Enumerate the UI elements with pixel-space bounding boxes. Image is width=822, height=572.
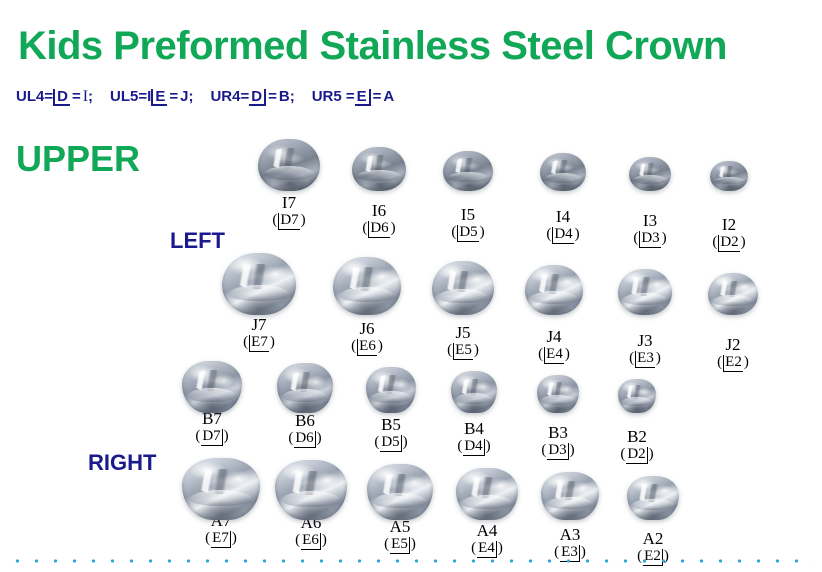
crown-label: B6: [255, 412, 355, 430]
sub-paren-open: (: [384, 536, 389, 553]
sub-paren-close: ): [391, 220, 396, 237]
sub-paren-close: ): [232, 530, 237, 547]
sub-paren-open: (: [546, 226, 551, 243]
quadrant-bracket: E4: [544, 347, 564, 364]
crown-cell[interactable]: J5(E5): [413, 256, 513, 360]
legend-code: UR4=: [210, 88, 249, 105]
crown-image: [603, 476, 703, 528]
page-title: Kids Preformed Stainless Steel Crown: [18, 24, 727, 69]
sub-paren-close: ): [649, 446, 654, 463]
side-label-right: RIGHT: [88, 450, 156, 476]
stainless-steel-crown-i4: [540, 153, 586, 191]
crown-label: J6: [317, 320, 417, 338]
crown-sub-label: (D2): [587, 446, 687, 464]
quadrant-bracket: E4: [477, 541, 497, 558]
crown-image: [683, 273, 783, 334]
crown-image: [329, 147, 429, 200]
legend-item-ul4: UL4= D = I ;: [16, 88, 93, 106]
sub-paren-open: (: [243, 334, 248, 351]
stainless-steel-crown-a2: [627, 476, 679, 520]
legend-code: UL4=: [16, 88, 53, 105]
stainless-steel-crown-a6: [275, 460, 347, 520]
crown-sub-label: (E3): [595, 350, 695, 368]
sub-paren-close: ): [411, 536, 416, 553]
crown-sub-label: (E6): [261, 532, 361, 550]
stainless-steel-crown-a4: [456, 468, 518, 520]
legend-equals: =: [373, 88, 382, 105]
crown-cell[interactable]: A5(E5): [350, 470, 450, 554]
stainless-steel-crown-b2: [618, 379, 656, 413]
sub-paren-close: ): [474, 342, 479, 359]
crown-cell[interactable]: J6(E6): [317, 256, 417, 356]
crown-label: J5: [413, 324, 513, 342]
crown-cell[interactable]: A6(E6): [261, 470, 361, 550]
crown-sub-label: (D7): [162, 428, 262, 446]
legend-equals: =: [72, 88, 81, 105]
crown-image: [413, 261, 513, 322]
sub-paren-close: ): [224, 428, 229, 445]
crown-sub-label: (E2): [683, 354, 783, 372]
sub-paren-close: ): [570, 442, 575, 459]
crown-sub-label: (E4): [504, 346, 604, 364]
crown-sub-label: (D2): [679, 234, 779, 252]
quadrant-bracket: D7: [278, 213, 299, 230]
quadrant-bracket: D2: [718, 235, 739, 252]
side-label-left: LEFT: [170, 228, 225, 254]
crown-cell[interactable]: B7(D7): [162, 368, 262, 446]
sub-paren-open: (: [351, 338, 356, 355]
quadrant-bracket: E6: [301, 533, 321, 550]
stainless-steel-crown-b4: [451, 371, 497, 413]
legend-code: UL5=: [110, 88, 147, 105]
crown-image: [171, 458, 271, 510]
stainless-steel-crown-j3: [618, 269, 672, 315]
sub-paren-close: ): [322, 532, 327, 549]
sub-paren-open: (: [374, 434, 379, 451]
crown-image: [418, 151, 518, 204]
crown-cell[interactable]: J3(E3): [595, 256, 695, 368]
quadrant-bracket: D6: [368, 221, 389, 238]
crown-cell[interactable]: J4(E4): [504, 256, 604, 364]
crown-sub-label: (E5): [413, 342, 513, 360]
stainless-steel-crown-i5: [443, 151, 493, 191]
crown-sub-label: (D6): [329, 220, 429, 238]
quadrant-bracket: D2: [626, 447, 647, 464]
quadrant-bracket: E6: [357, 339, 377, 356]
sub-paren-open: (: [629, 350, 634, 367]
quadrant-bracket: E5: [390, 537, 410, 554]
crown-label: J4: [504, 328, 604, 346]
sub-paren-close: ): [656, 350, 661, 367]
quadrant-bracket: D7: [201, 429, 222, 446]
sub-paren-open: (: [447, 342, 452, 359]
quadrant-bracket: D4: [463, 439, 484, 456]
crown-cell[interactable]: A2(E2): [603, 470, 703, 566]
crown-cell[interactable]: B6(D6): [255, 368, 355, 448]
stainless-steel-crown-i6: [352, 147, 406, 191]
crown-label: I2: [679, 216, 779, 234]
quadrant-bracket: E3: [635, 351, 655, 368]
sub-paren-close: ): [403, 434, 408, 451]
legend-result: B: [279, 88, 290, 105]
sub-paren-open: (: [205, 530, 210, 547]
stainless-steel-crown-a7: [182, 458, 260, 520]
stainless-steel-crown-b7: [182, 361, 242, 413]
crown-label: A5: [350, 518, 450, 536]
sub-paren-open: (: [541, 442, 546, 459]
stainless-steel-crown-i7: [258, 139, 320, 191]
legend-result: A: [383, 88, 394, 105]
sub-paren-close: ): [378, 338, 383, 355]
crown-cell[interactable]: I5(D5): [418, 140, 518, 242]
crown-sub-label: (D6): [255, 430, 355, 448]
sub-paren-close: ): [498, 540, 503, 557]
quadrant-bracket: D4: [552, 227, 573, 244]
crown-cell[interactable]: I6(D6): [329, 140, 429, 238]
stainless-steel-crown-j5: [432, 261, 494, 315]
sub-paren-close: ): [317, 430, 322, 447]
sub-paren-open: (: [195, 428, 200, 445]
crown-image: [261, 460, 361, 512]
crown-cell[interactable]: I7(D7): [239, 140, 339, 230]
sub-paren-open: (: [288, 430, 293, 447]
quadrant-bracket: D: [249, 89, 266, 106]
crown-cell[interactable]: I2(D2): [679, 140, 779, 252]
crown-image: [239, 139, 339, 192]
sub-paren-open: (: [633, 230, 638, 247]
quadrant-bracket: E7: [211, 531, 231, 548]
crown-cell[interactable]: I4(D4): [513, 140, 613, 244]
quadrant-bracket: E5: [453, 343, 473, 360]
sub-paren-open: (: [620, 446, 625, 463]
sub-paren-open: (: [451, 224, 456, 241]
quadrant-bracket: E: [151, 89, 167, 106]
crown-label: I7: [239, 194, 339, 212]
stainless-steel-crown-b5: [366, 367, 416, 413]
stainless-steel-crown-j6: [333, 257, 401, 315]
crown-image: [209, 253, 309, 314]
stainless-steel-crown-a3: [541, 472, 599, 520]
crown-image: [162, 361, 262, 408]
crown-image: [317, 257, 417, 318]
stainless-steel-crown-b6: [277, 363, 333, 413]
notation-legend: UL4= D = I ; UL5= I E = J ; UR4= D = B ;…: [16, 88, 411, 106]
bottom-dotted-rule: [8, 558, 814, 564]
crown-label: J3: [595, 332, 695, 350]
legend-item-ul5: UL5= I E = J ;: [110, 88, 193, 106]
legend-equals: =: [268, 88, 277, 105]
sub-paren-open: (: [717, 354, 722, 371]
quadrant-bracket: D: [53, 89, 70, 106]
crown-sub-label: (D5): [418, 224, 518, 242]
quadrant-bracket: E7: [249, 335, 269, 352]
sub-paren-close: ): [741, 234, 746, 251]
sub-paren-close: ): [565, 346, 570, 363]
crown-image: [255, 363, 355, 410]
sub-paren-close: ): [270, 334, 275, 351]
quadrant-bracket: D3: [547, 443, 568, 460]
quadrant-bracket: E: [355, 89, 371, 106]
crown-label: J7: [209, 316, 309, 334]
sub-paren-close: ): [662, 230, 667, 247]
sub-paren-open: (: [457, 438, 462, 455]
quadrant-bracket: D3: [639, 231, 660, 248]
stainless-steel-crown-j4: [525, 265, 583, 315]
crown-image: [350, 464, 450, 516]
legend-separator: ;: [88, 88, 93, 105]
sub-paren-close: ): [301, 212, 306, 229]
crown-chart-page: Kids Preformed Stainless Steel Crown UL4…: [0, 0, 822, 572]
crown-sub-label: (D7): [239, 212, 339, 230]
quadrant-bracket: E2: [723, 355, 743, 372]
crown-label: I4: [513, 208, 613, 226]
stainless-steel-crown-j2: [708, 273, 758, 315]
quadrant-bracket: D5: [380, 435, 401, 452]
crown-label: B2: [587, 428, 687, 446]
legend-separator: ;: [290, 88, 295, 105]
stainless-steel-crown-b3: [537, 375, 579, 413]
crown-cell[interactable]: A7(E7): [171, 470, 271, 548]
crown-sub-label: (E6): [317, 338, 417, 356]
crown-image: [587, 379, 687, 426]
sub-paren-close: ): [575, 226, 580, 243]
arch-label-upper: UPPER: [16, 138, 140, 180]
crown-cell[interactable]: J2(E2): [683, 256, 783, 372]
legend-equals: =: [169, 88, 178, 105]
sub-paren-close: ): [744, 354, 749, 371]
crown-label: A2: [603, 530, 703, 548]
quadrant-bracket: D6: [294, 431, 315, 448]
crown-label: J2: [683, 336, 783, 354]
crown-label: I6: [329, 202, 429, 220]
sub-paren-open: (: [712, 234, 717, 251]
stainless-steel-crown-j7: [222, 253, 296, 315]
sub-paren-close: ): [486, 438, 491, 455]
stainless-steel-crown-i3: [629, 157, 671, 191]
crown-sub-label: (E7): [209, 334, 309, 352]
legend-item-ur4: UR4= D = B ;: [210, 88, 294, 106]
sub-paren-open: (: [272, 212, 277, 229]
stainless-steel-crown-i2: [710, 161, 748, 191]
legend-separator: ;: [188, 88, 193, 105]
crown-sub-label: (E5): [350, 536, 450, 554]
legend-result: J: [180, 88, 188, 105]
sub-paren-open: (: [362, 220, 367, 237]
sub-paren-open: (: [538, 346, 543, 363]
crown-image: [679, 161, 779, 214]
crown-sub-label: (D4): [513, 226, 613, 244]
legend-item-ur5: UR5 = E = A: [312, 88, 395, 106]
quadrant-bracket: D5: [457, 225, 478, 242]
crown-label: I5: [418, 206, 518, 224]
crown-image: [595, 269, 695, 330]
sub-paren-open: (: [295, 532, 300, 549]
crown-sub-label: (E7): [171, 530, 271, 548]
sub-paren-close: ): [480, 224, 485, 241]
crown-cell[interactable]: B2(D2): [587, 368, 687, 464]
crown-cell[interactable]: J7(E7): [209, 256, 309, 352]
sub-paren-open: (: [471, 540, 476, 557]
crown-image: [504, 265, 604, 326]
crown-image: [513, 153, 613, 206]
legend-code: UR5 =: [312, 88, 355, 105]
stainless-steel-crown-a5: [367, 464, 433, 520]
